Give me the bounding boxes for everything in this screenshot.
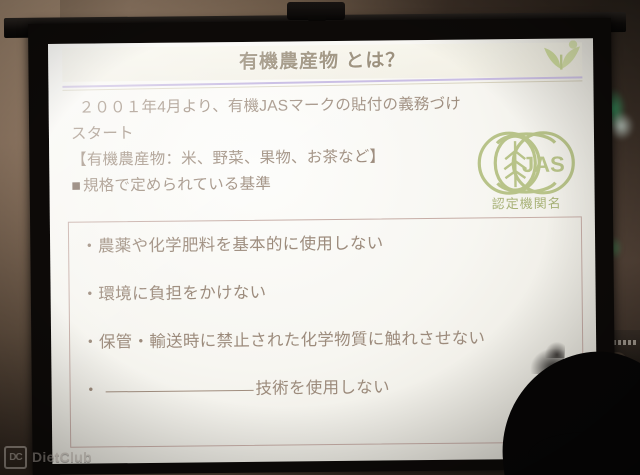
list-item-blank: ・技術を使用しない — [82, 371, 578, 400]
list-item: ・環境に負担をかけない — [81, 275, 577, 304]
watermark-text: DietClub — [32, 449, 92, 465]
leaf-sprout-icon — [540, 40, 584, 70]
section-heading: ■規格で定められている基準 — [71, 170, 471, 200]
fill-in-blank — [105, 390, 253, 393]
criteria-list-box: ・農薬や化学肥料を基本的に使用しない ・環境に負担をかけない ・保管・輸送時に禁… — [68, 216, 584, 447]
jas-mark-caption: 認定機関名 — [468, 192, 586, 212]
body-line-1: ２００１年4月より、有機JASマークの貼付の義務づけ — [71, 92, 471, 122]
svg-text:JAS: JAS — [522, 152, 565, 177]
list-item: ・保管・輸送時に禁止された化学物質に触れさせない — [82, 323, 578, 352]
slide-content: 有機農産物 とは？ ２００１年4月より、有機JASマークの貼付の義務づけ スター… — [62, 40, 586, 455]
audience-hair-wisp-2 — [545, 342, 565, 358]
list-item: ・農薬や化学肥料を基本的に使用しない — [81, 227, 577, 256]
section-heading-label: 規格で定められている基準 — [83, 176, 271, 195]
square-bullet-icon: ■ — [71, 178, 81, 195]
list-bullet-icon: ・ — [83, 381, 100, 399]
screenshot-stage: 有機農産物 とは？ ２００１年4月より、有機JASマークの貼付の義務づけ スター… — [0, 0, 640, 475]
list-item-blank-label: 技術を使用しない — [255, 378, 390, 397]
slide-title: 有機農産物 とは？ — [62, 43, 582, 75]
watermark: DC DietClub — [4, 446, 92, 468]
audience-shoulder-silhouette — [528, 432, 640, 475]
watermark-logo-icon: DC — [4, 446, 27, 469]
slide-body: ２００１年4月より、有機JASマークの貼付の義務づけ スタート 【有機農産物：米… — [71, 92, 472, 200]
